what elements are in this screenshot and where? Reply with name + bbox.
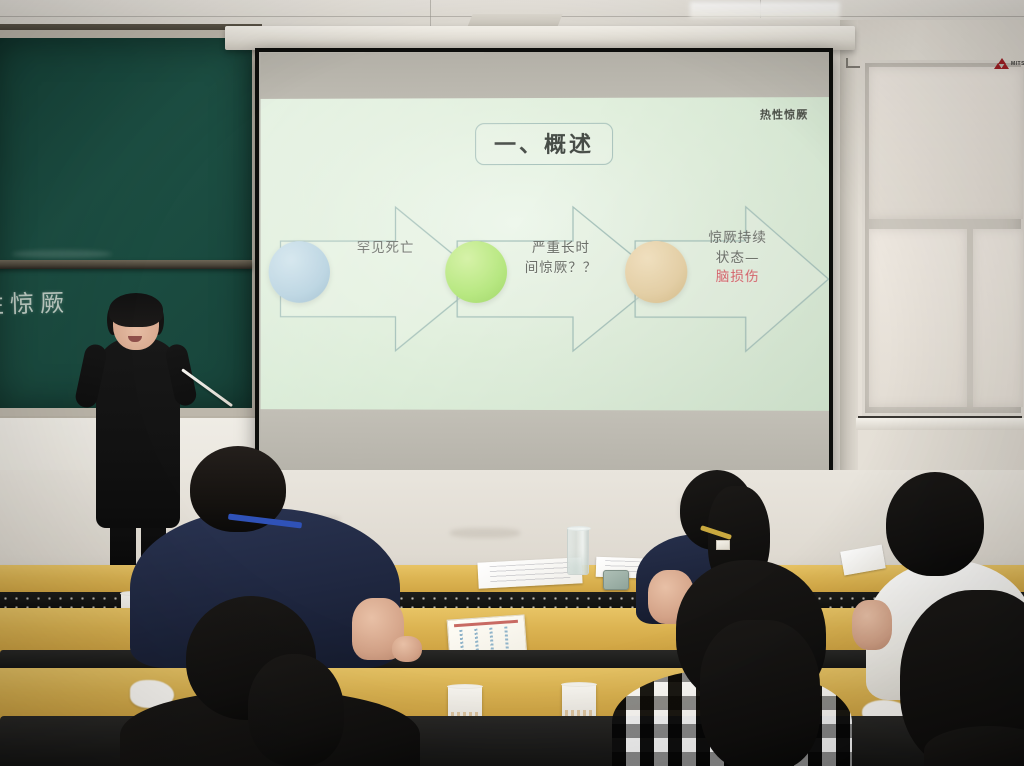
slide-title: 一、概述 — [494, 127, 594, 159]
brand-label: MITSUBISHI — [1011, 61, 1024, 67]
chalkboard-writing: 性惊厥 — [0, 283, 70, 320]
slide-title-box: 一、概述 — [475, 123, 613, 165]
window-blind-lower-left — [869, 229, 967, 407]
screen-letterbox-bottom — [261, 409, 829, 472]
form-header-line — [454, 620, 518, 627]
step-line: 惊厥持续 — [681, 229, 794, 249]
window — [862, 60, 1024, 416]
step-line: 罕见死亡 — [330, 239, 441, 259]
audience-hand — [392, 636, 422, 662]
cup-rim — [447, 684, 483, 689]
projector-brand: MITSUBISHI — [995, 58, 1024, 69]
slide-corner-label: 热性惊厥 — [760, 106, 808, 122]
step-text-1: 罕见死亡 — [330, 239, 441, 259]
window-sill — [856, 418, 1024, 430]
process-step-3: 惊厥持续 状态— 脑损伤 — [633, 193, 829, 366]
form-column — [505, 627, 510, 652]
water-glass — [567, 527, 589, 575]
step-line: 间惊厥？？ — [499, 259, 623, 279]
step-text-3: 惊厥持续 状态— 脑损伤 — [681, 229, 794, 288]
audience-head — [886, 472, 984, 576]
step-circle-1 — [269, 241, 330, 303]
ceiling-light — [690, 2, 840, 18]
mobile-phone — [603, 570, 629, 590]
step-text-2: 严重长时 间惊厥？？ — [499, 239, 623, 278]
slide-process-arrows: 罕见死亡 严重长时 — [261, 193, 829, 384]
chalk-rail — [0, 260, 252, 269]
glass-rim — [567, 526, 591, 531]
audience-arm — [852, 600, 892, 650]
wall-hook-icon — [846, 58, 860, 68]
step-line: 严重长时 — [499, 239, 623, 259]
step-line: 状态— — [681, 248, 794, 268]
chalk-smudge — [12, 250, 112, 258]
projection-screen-housing: MITSUBISHI — [225, 26, 855, 50]
projection-screen: 热性惊厥 一、概述 — [255, 48, 833, 478]
screen-canvas: 热性惊厥 一、概述 — [259, 52, 829, 472]
slide: 热性惊厥 一、概述 — [261, 97, 829, 411]
lecture-hall-scene: 性惊厥 MITSUBISHI 热性惊厥 一、概述 — [0, 0, 1024, 766]
id-badge — [716, 540, 730, 550]
presenter-hair — [109, 293, 163, 327]
mitsubishi-logo-icon — [995, 58, 1008, 69]
step-circle-2 — [445, 241, 507, 303]
window-blind-lower-right — [973, 229, 1023, 407]
audience-ponytail — [248, 654, 344, 766]
paper-lines — [490, 562, 570, 585]
step-circle-3 — [625, 241, 687, 303]
screen-letterbox-top — [261, 52, 829, 99]
step-line-highlight: 脑损伤 — [681, 268, 794, 288]
audience-hair-fall — [700, 620, 820, 766]
window-blind-upper — [869, 67, 1023, 219]
presenter-left-hand — [80, 358, 97, 377]
cup-rim — [561, 682, 597, 687]
